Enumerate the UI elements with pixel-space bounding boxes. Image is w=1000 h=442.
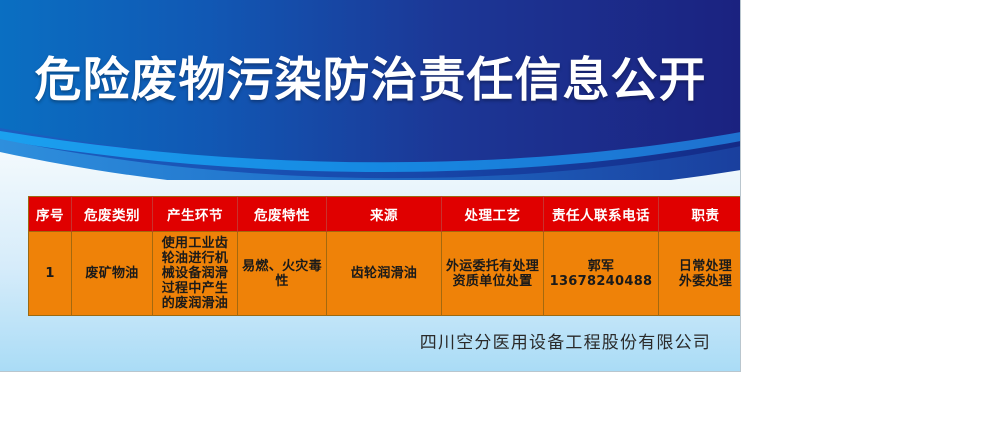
hazardous-waste-table: 序号 危废类别 产生环节 危废特性 来源 处理工艺 责任人联系电话 职责 1 废… [28,196,741,316]
information-disclosure-poster: 危险废物污染防治责任信息公开 序号 危废类别 产生环节 危废特性 来源 处理工艺… [0,0,741,372]
column-header-seq: 序号 [29,197,72,232]
column-header-contact-phone: 责任人联系电话 [544,197,659,232]
duty-line-1: 日常处理 [662,259,741,274]
column-header-stage: 产生环节 [153,197,238,232]
duty-line-2: 外委处理 [662,274,741,289]
cell-category: 废矿物油 [72,232,153,316]
table-header-row: 序号 危废类别 产生环节 危废特性 来源 处理工艺 责任人联系电话 职责 [29,197,742,232]
cell-stage: 使用工业齿轮油进行机械设备润滑过程中产生的废润滑油 [153,232,238,316]
company-name-footer: 四川空分医用设备工程股份有限公司 [420,328,711,353]
table-header: 序号 危废类别 产生环节 危废特性 来源 处理工艺 责任人联系电话 职责 [29,197,742,232]
column-header-category: 危废类别 [72,197,153,232]
contact-person-phone: 13678240488 [547,274,655,289]
column-header-source: 来源 [327,197,442,232]
cell-duty: 日常处理 外委处理 [659,232,742,316]
table-body: 1 废矿物油 使用工业齿轮油进行机械设备润滑过程中产生的废润滑油 易燃、火灾毒性… [29,232,742,316]
page-title: 危险废物污染防治责任信息公开 [0,52,741,110]
table-row: 1 废矿物油 使用工业齿轮油进行机械设备润滑过程中产生的废润滑油 易燃、火灾毒性… [29,232,742,316]
cell-characteristic: 易燃、火灾毒性 [238,232,327,316]
cell-contact: 郭军 13678240488 [544,232,659,316]
cell-process: 外运委托有处理资质单位处置 [442,232,544,316]
column-header-duty: 职责 [659,197,742,232]
cell-source: 齿轮润滑油 [327,232,442,316]
contact-person-name: 郭军 [547,259,655,274]
column-header-characteristic: 危废特性 [238,197,327,232]
column-header-process: 处理工艺 [442,197,544,232]
cell-seq: 1 [29,232,72,316]
